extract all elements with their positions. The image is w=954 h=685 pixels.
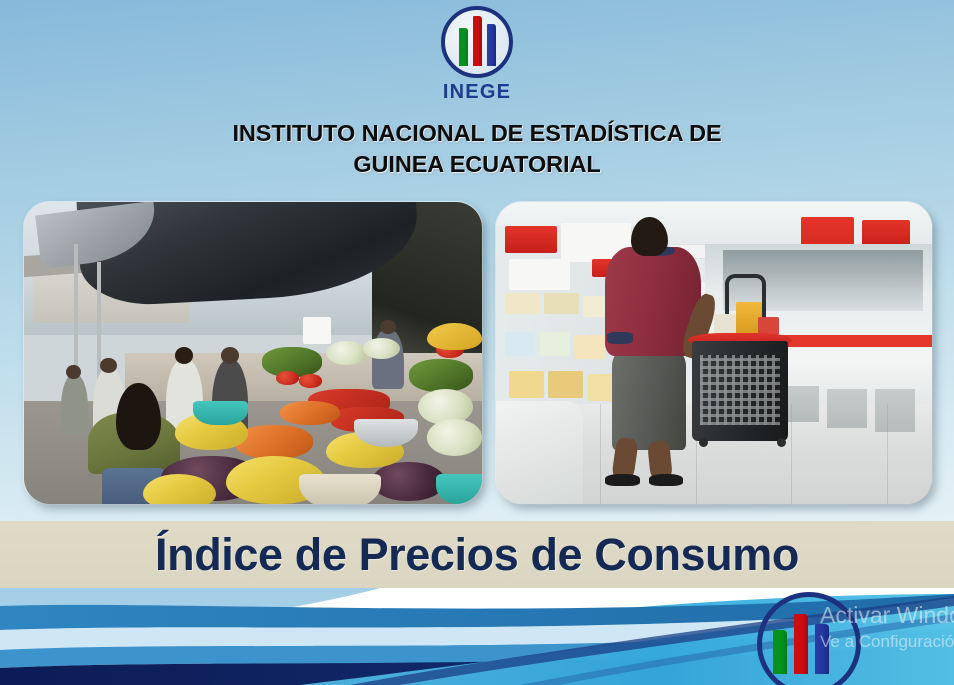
produce-carrot-pile xyxy=(280,401,340,425)
cart-item-package xyxy=(758,317,780,335)
shelf-product xyxy=(540,332,571,356)
shopper-sandal xyxy=(605,474,640,486)
logo-bar-green-icon xyxy=(459,28,468,66)
photo-supermarket-aisle xyxy=(496,202,932,504)
logo-bar-group xyxy=(459,22,496,74)
logo-large-bar-blue-icon xyxy=(815,624,829,674)
produce-mangosteen-pile xyxy=(372,462,445,501)
market-shopper-head xyxy=(100,358,116,373)
page-title: Índice de Precios de Consumo xyxy=(0,524,954,586)
shelf-product xyxy=(505,293,540,314)
logo-bar-red-icon xyxy=(473,16,482,66)
shelf-product xyxy=(574,335,605,359)
market-price-sign xyxy=(303,317,330,344)
produce-cabbage xyxy=(427,419,482,455)
institute-title-line-1: INSTITUTO NACIONAL DE ESTADÍSTICA DE xyxy=(0,118,954,149)
produce-yellow-fruit xyxy=(427,323,482,350)
floor-tile xyxy=(792,404,888,504)
logo-large-bar-red-icon xyxy=(794,614,808,674)
produce-tomato xyxy=(276,371,299,385)
produce-grain-bowl xyxy=(299,474,381,504)
promo-sign-red-hanging xyxy=(862,220,910,247)
inege-logo-icon xyxy=(441,6,513,78)
produce-greens xyxy=(409,359,473,392)
institute-title-line-2: GUINEA ECUATORIAL xyxy=(0,149,954,180)
produce-basket-teal xyxy=(436,474,482,504)
produce-cabbage xyxy=(363,338,400,359)
shelf-product xyxy=(505,332,536,356)
foreground-chest-freezer xyxy=(496,401,583,504)
market-shopper-head xyxy=(66,365,81,379)
logo-large-bar-group xyxy=(773,612,829,674)
shelf-product xyxy=(544,293,579,314)
cover-slide: INEGE INSTITUTO NACIONAL DE ESTADÍSTICA … xyxy=(0,0,954,685)
promo-sign-white xyxy=(509,259,570,289)
cart-mesh-pattern xyxy=(700,355,781,425)
shopper-sandal xyxy=(649,474,684,486)
shelf-product xyxy=(548,371,583,398)
cart-item-package xyxy=(714,314,736,335)
inege-logo-large-icon xyxy=(757,592,861,685)
institute-title: INSTITUTO NACIONAL DE ESTADÍSTICA DE GUI… xyxy=(0,118,954,180)
inege-logo-block: INEGE xyxy=(0,6,954,104)
cart-wheel xyxy=(777,438,786,447)
cart-wheel xyxy=(699,438,708,447)
market-shopper-head xyxy=(221,347,239,364)
photo-open-air-market xyxy=(24,202,482,504)
cart-basket-body xyxy=(692,341,788,441)
shelf-product xyxy=(509,371,544,398)
promo-sign-red xyxy=(505,226,557,253)
shopper-trousers xyxy=(612,350,686,450)
inege-wordmark: INEGE xyxy=(443,81,511,104)
market-vendor-head xyxy=(380,320,396,334)
logo-large-bar-green-icon xyxy=(773,630,787,674)
logo-bar-blue-icon xyxy=(487,24,496,66)
market-shopper xyxy=(61,374,88,434)
shopper-sleeve-cuff xyxy=(607,332,633,344)
produce-tomato xyxy=(299,374,322,388)
